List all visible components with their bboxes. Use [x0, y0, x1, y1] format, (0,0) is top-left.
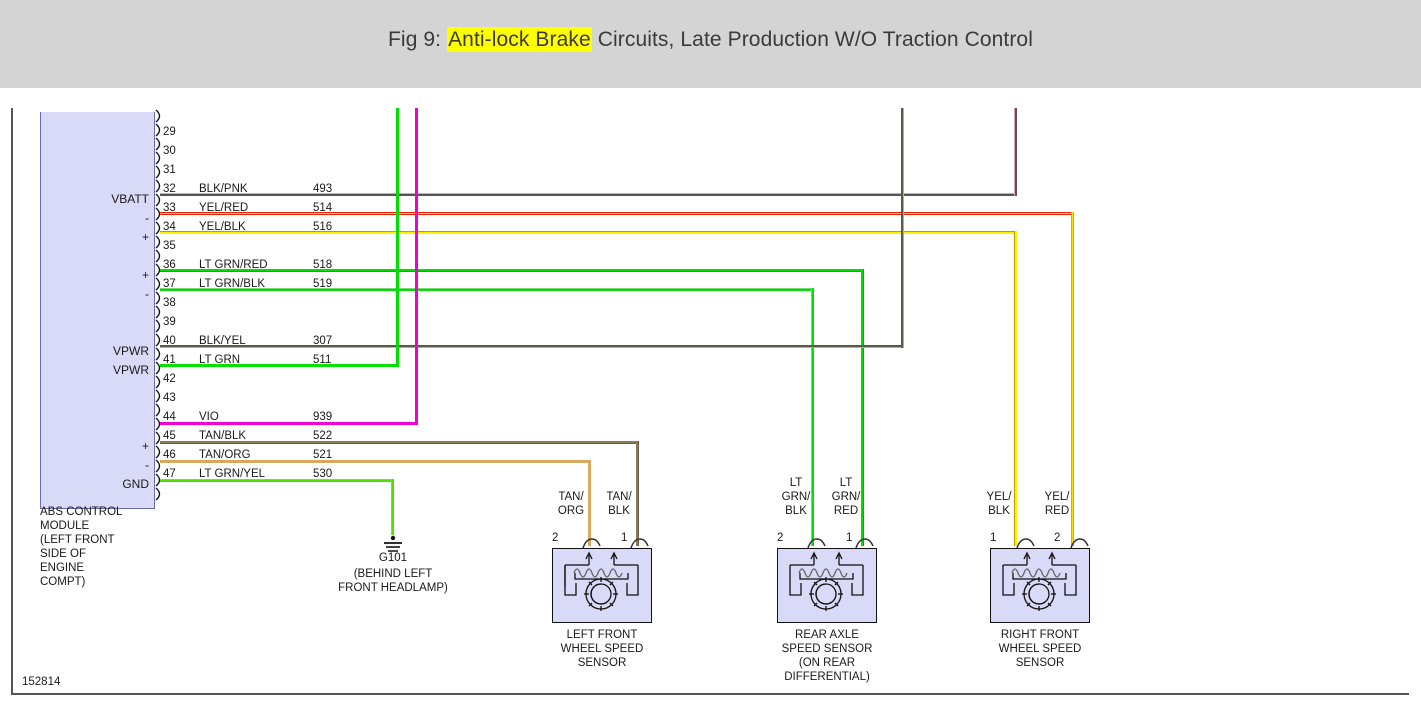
sensor-caption: LEFT FRONT WHEEL SPEED SENSOR	[517, 628, 687, 670]
module-caption-line: (LEFT FRONT	[40, 534, 115, 546]
wire-blk-yel-307-vertical	[901, 108, 904, 348]
wire-label-tan-blk: TAN/ BLK	[589, 490, 649, 518]
pin-number: 43	[163, 392, 176, 404]
wire-blk-pnk-493-vertical	[1014, 108, 1017, 196]
module-side-label-vbatt: VBATT	[53, 192, 149, 206]
figure-title: Fig 9: Anti-lock Brake Circuits, Late Pr…	[0, 28, 1421, 52]
ground-location-line: FRONT HEADLAMP)	[313, 582, 473, 594]
wire-yel-red-514-horizontal	[160, 212, 1074, 215]
figure-title-prefix: Fig 9:	[388, 28, 447, 51]
pin-number: 38	[163, 297, 176, 309]
right-front-wheel-speed-sensor	[990, 548, 1090, 623]
rear-axle-speed-sensor	[777, 548, 877, 623]
speed-sensor-icon	[553, 549, 650, 621]
ground-location-line: (BEHIND LEFT	[323, 568, 463, 580]
wire-blk-pnk-493-horizontal	[160, 193, 1017, 196]
module-side-label-plus: +	[53, 230, 149, 244]
wire-lt-grn-red-518-horizontal	[160, 269, 864, 272]
wire-lt-grn-yel-530-vertical	[391, 479, 394, 535]
wire-lt-grn-511-horizontal	[160, 364, 399, 367]
wire-tan-org-521-horizontal	[160, 460, 591, 463]
wire-label-yel-red: YEL/ RED	[1027, 490, 1087, 518]
wire-label-yel-blk: YEL/ BLK	[969, 490, 1029, 518]
pin-number: 31	[163, 164, 176, 176]
module-caption-line: COMPT)	[40, 576, 85, 588]
diagram-id-number: 152814	[22, 676, 60, 688]
wire-vio-939-horizontal	[160, 422, 418, 425]
pin-number: 42	[163, 373, 176, 385]
sensor-caption: REAR AXLE SPEED SENSOR (ON REAR DIFFEREN…	[742, 628, 912, 684]
wire-tan-blk-522-horizontal	[160, 441, 639, 444]
figure-title-suffix: Circuits, Late Production W/O Traction C…	[592, 28, 1033, 51]
module-side-label-minus: -	[53, 287, 149, 301]
wire-vio-939-vertical	[415, 108, 418, 425]
module-side-label-vpwr: VPWR	[53, 344, 149, 358]
pin-number: 39	[163, 316, 176, 328]
module-caption-line: ABS CONTROL	[40, 506, 122, 518]
module-side-label-minus: -	[53, 458, 149, 472]
wiring-diagram: 29 30 31 32 33 34 35 36 37 38 39 40 41 4…	[13, 108, 1411, 695]
left-front-wheel-speed-sensor	[552, 548, 652, 623]
wire-lt-grn-blk-519-horizontal	[160, 288, 814, 291]
module-side-label-minus: -	[53, 211, 149, 225]
sensor-caption: RIGHT FRONT WHEEL SPEED SENSOR	[955, 628, 1125, 670]
module-caption-line: MODULE	[40, 520, 89, 532]
wire-label-lt-grn-red: LT GRN/ RED	[816, 476, 876, 518]
speed-sensor-icon	[991, 549, 1088, 621]
module-side-label-gnd: GND	[53, 477, 149, 491]
speed-sensor-icon	[778, 549, 875, 621]
wire-lt-grn-yel-530-horizontal	[160, 479, 394, 482]
module-side-label-vpwr: VPWR	[53, 363, 149, 377]
module-caption-line: ENGINE	[40, 562, 84, 574]
module-side-label-plus: +	[53, 268, 149, 282]
pin-number: 35	[163, 240, 176, 252]
wire-lt-grn-511-vertical	[396, 108, 399, 367]
wire-yel-blk-516-horizontal	[160, 231, 1017, 234]
ground-label: G101	[343, 552, 443, 564]
page-header: Fig 9: Anti-lock Brake Circuits, Late Pr…	[0, 0, 1421, 88]
pin-number: 30	[163, 145, 176, 157]
module-caption-line: SIDE OF	[40, 548, 86, 560]
wire-blk-yel-307-horizontal	[160, 345, 904, 348]
pin-number: 29	[163, 126, 176, 138]
figure-title-highlight: Anti-lock Brake	[447, 27, 592, 52]
screenshot-root: Fig 9: Anti-lock Brake Circuits, Late Pr…	[0, 0, 1421, 725]
diagram-frame: 29 30 31 32 33 34 35 36 37 38 39 40 41 4…	[11, 108, 1409, 695]
module-side-label-plus: +	[53, 439, 149, 453]
